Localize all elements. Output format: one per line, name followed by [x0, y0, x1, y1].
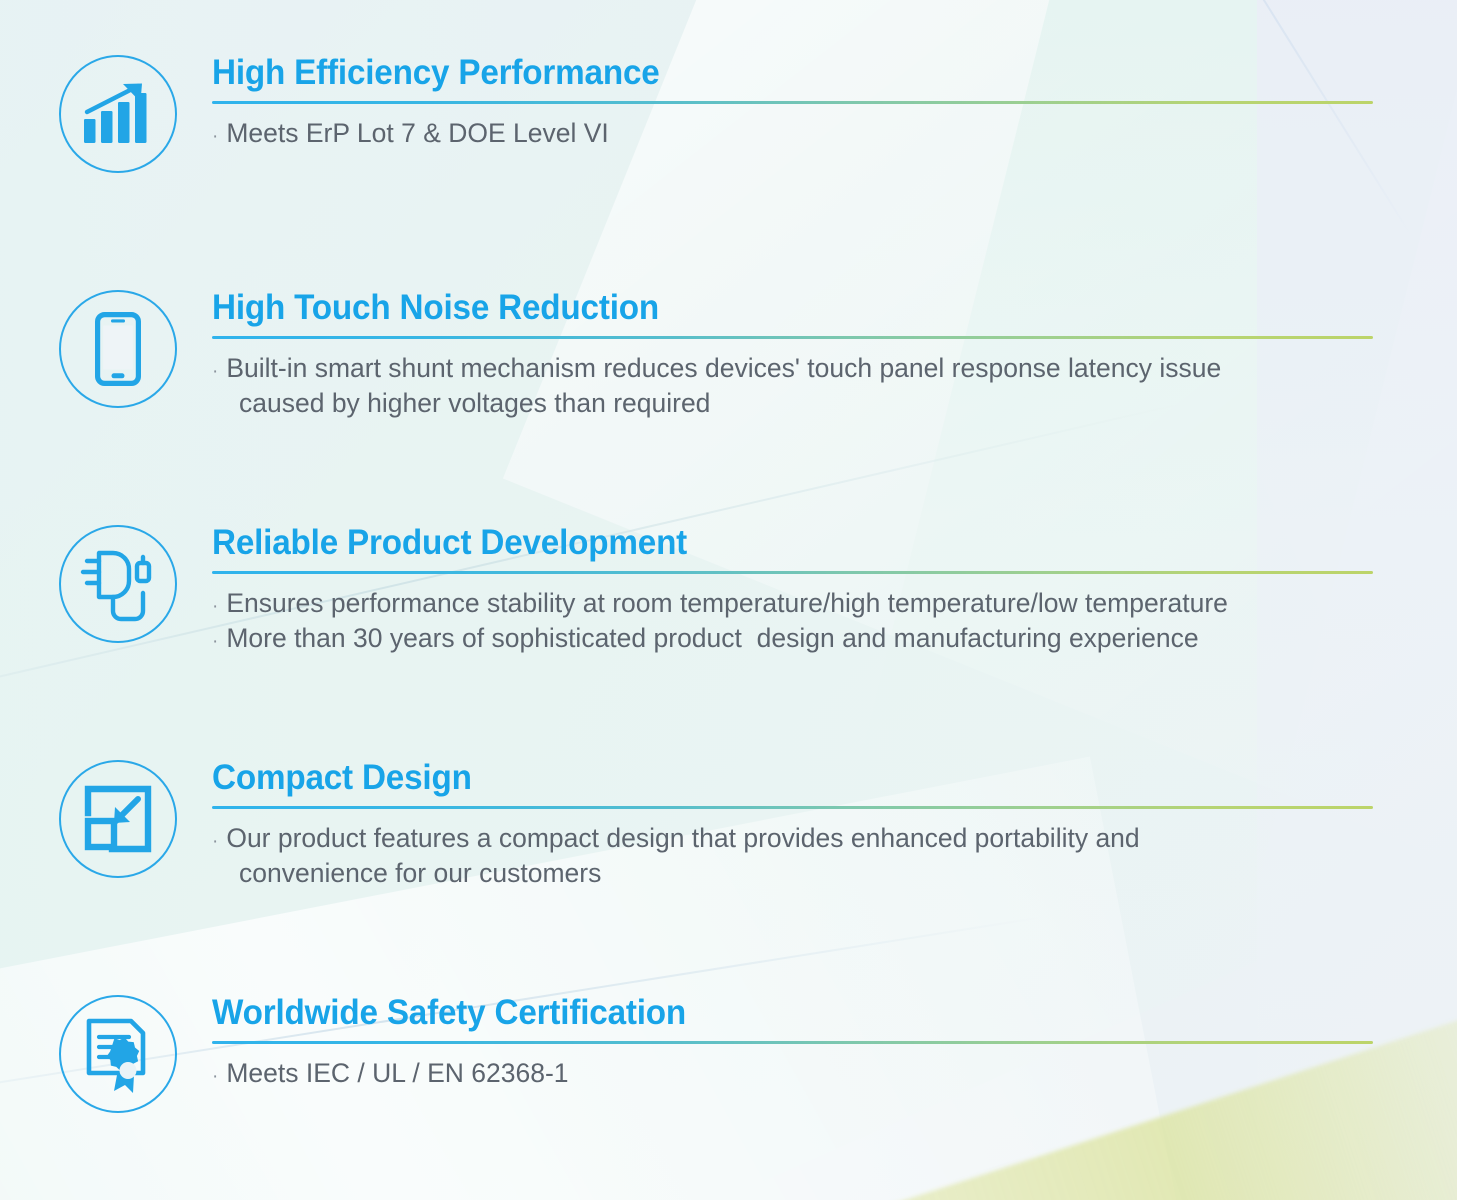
feature-divider [212, 1041, 1373, 1044]
feature-description: · Our product features a compact design … [212, 821, 1374, 891]
power-adapter-icon [59, 525, 177, 643]
bullet-text: Meets IEC / UL / EN 62368-1 [226, 1056, 568, 1091]
feature-content: High Efficiency Performance · Meets ErP … [212, 55, 1374, 151]
feature-title: Reliable Product Development [212, 525, 1316, 560]
feature-title: High Touch Noise Reduction [212, 290, 1316, 325]
feature-bullet-line: convenience for our customers [212, 856, 1374, 891]
feature-description: · Meets ErP Lot 7 & DOE Level VI [212, 116, 1374, 151]
bar-chart-growth-icon [59, 55, 177, 173]
feature-title: Compact Design [212, 760, 1316, 795]
bullet-dot: · [212, 597, 218, 616]
bullet-text: Our product features a compact design th… [226, 821, 1139, 856]
bullet-dot: · [212, 632, 218, 651]
feature-content: Compact Design · Our product features a … [212, 760, 1374, 891]
bullet-text: More than 30 years of sophisticated prod… [226, 621, 1198, 656]
feature-bullet-line: · More than 30 years of sophisticated pr… [212, 621, 1374, 656]
feature-title: High Efficiency Performance [212, 55, 1316, 90]
bullet-text: caused by higher voltages than required [239, 386, 710, 421]
feature-description: · Meets IEC / UL / EN 62368-1 [212, 1056, 1374, 1091]
feature-bullet-line: · Meets ErP Lot 7 & DOE Level VI [212, 116, 1374, 151]
feature-divider [212, 806, 1373, 809]
bullet-text: Meets ErP Lot 7 & DOE Level VI [226, 116, 608, 151]
compact-resize-icon [59, 760, 177, 878]
feature-list: High Efficiency Performance · Meets ErP … [0, 0, 1457, 1200]
bullet-text: convenience for our customers [239, 856, 601, 891]
bullet-dot: · [212, 127, 218, 146]
bullet-dot: · [212, 1067, 218, 1086]
feature-description: · Ensures performance stability at room … [212, 586, 1374, 656]
feature-bullet-line: caused by higher voltages than required [212, 386, 1374, 421]
smartphone-icon [59, 290, 177, 408]
bullet-text: Built-in smart shunt mechanism reduces d… [226, 351, 1221, 386]
feature-content: Worldwide Safety Certification · Meets I… [212, 995, 1374, 1091]
feature-divider [212, 336, 1373, 339]
certificate-award-icon [59, 995, 177, 1113]
feature-divider [212, 571, 1373, 574]
bullet-dot: · [212, 362, 218, 381]
feature-content: Reliable Product Development · Ensures p… [212, 525, 1374, 656]
feature-divider [212, 101, 1373, 104]
feature-description: · Built-in smart shunt mechanism reduces… [212, 351, 1374, 421]
feature-bullet-line: · Our product features a compact design … [212, 821, 1374, 856]
feature-bullet-line: · Meets IEC / UL / EN 62368-1 [212, 1056, 1374, 1091]
bullet-dot: · [212, 832, 218, 851]
bullet-text: Ensures performance stability at room te… [226, 586, 1228, 621]
feature-content: High Touch Noise Reduction · Built-in sm… [212, 290, 1374, 421]
feature-bullet-line: · Built-in smart shunt mechanism reduces… [212, 351, 1374, 386]
feature-title: Worldwide Safety Certification [212, 995, 1316, 1030]
feature-bullet-line: · Ensures performance stability at room … [212, 586, 1374, 621]
